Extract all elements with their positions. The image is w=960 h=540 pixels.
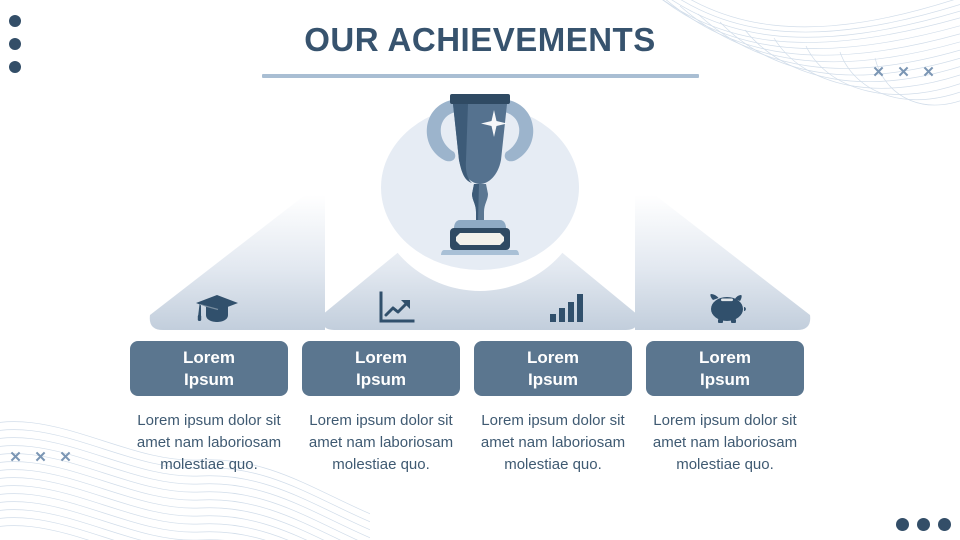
decor-crosses-bottom-left: ✕ ✕ ✕ (8, 450, 73, 465)
achievement-column-1: Lorem Ipsum Lorem ipsum dolor sit amet n… (130, 341, 288, 477)
column-icon-4 (697, 288, 757, 328)
slide-canvas: ✕ ✕ ✕ ✕ ✕ ✕ OUR ACHIEVEMENTS (0, 0, 960, 540)
column-icon-1 (187, 288, 247, 328)
achievement-column-4: Lorem Ipsum Lorem ipsum dolor sit amet n… (646, 341, 804, 477)
trophy-icon (416, 88, 544, 256)
column-title-line2: Ipsum (528, 369, 578, 390)
achievement-column-2: Lorem Ipsum Lorem ipsum dolor sit amet n… (302, 341, 460, 477)
piggy-bank-icon (707, 292, 747, 324)
column-title-line1: Lorem (699, 347, 751, 368)
column-title-line2: Ipsum (356, 369, 406, 390)
decor-dots-bottom-right (896, 518, 951, 531)
column-title-chip-3[interactable]: Lorem Ipsum (474, 341, 632, 396)
bar-chart-ascending-icon (548, 293, 586, 323)
title-block: OUR ACHIEVEMENTS (0, 22, 960, 78)
dot-icon (896, 518, 909, 531)
graduation-cap-icon (194, 291, 240, 325)
column-title-line1: Lorem (527, 347, 579, 368)
dot-icon (938, 518, 951, 531)
achievement-columns: Lorem Ipsum Lorem ipsum dolor sit amet n… (130, 341, 830, 477)
page-title: OUR ACHIEVEMENTS (0, 22, 960, 58)
column-description-2: Lorem ipsum dolor sit amet nam laboriosa… (294, 410, 469, 477)
column-title-line2: Ipsum (700, 369, 750, 390)
column-title-line1: Lorem (355, 347, 407, 368)
column-title-chip-1[interactable]: Lorem Ipsum (130, 341, 288, 396)
column-icon-2 (366, 288, 426, 328)
column-title-chip-4[interactable]: Lorem Ipsum (646, 341, 804, 396)
column-title-chip-2[interactable]: Lorem Ipsum (302, 341, 460, 396)
cross-icon: ✕ (8, 450, 23, 465)
cross-icon: ✕ (33, 450, 48, 465)
dot-icon (917, 518, 930, 531)
column-description-1: Lorem ipsum dolor sit amet nam laboriosa… (122, 410, 297, 477)
column-icon-3 (537, 288, 597, 328)
cross-icon: ✕ (58, 450, 73, 465)
achievement-column-3: Lorem Ipsum Lorem ipsum dolor sit amet n… (474, 341, 632, 477)
column-description-3: Lorem ipsum dolor sit amet nam laboriosa… (466, 410, 641, 477)
column-title-line1: Lorem (183, 347, 235, 368)
title-underline (262, 74, 699, 78)
column-description-4: Lorem ipsum dolor sit amet nam laboriosa… (638, 410, 813, 477)
column-title-line2: Ipsum (184, 369, 234, 390)
line-chart-growth-icon (377, 291, 415, 325)
